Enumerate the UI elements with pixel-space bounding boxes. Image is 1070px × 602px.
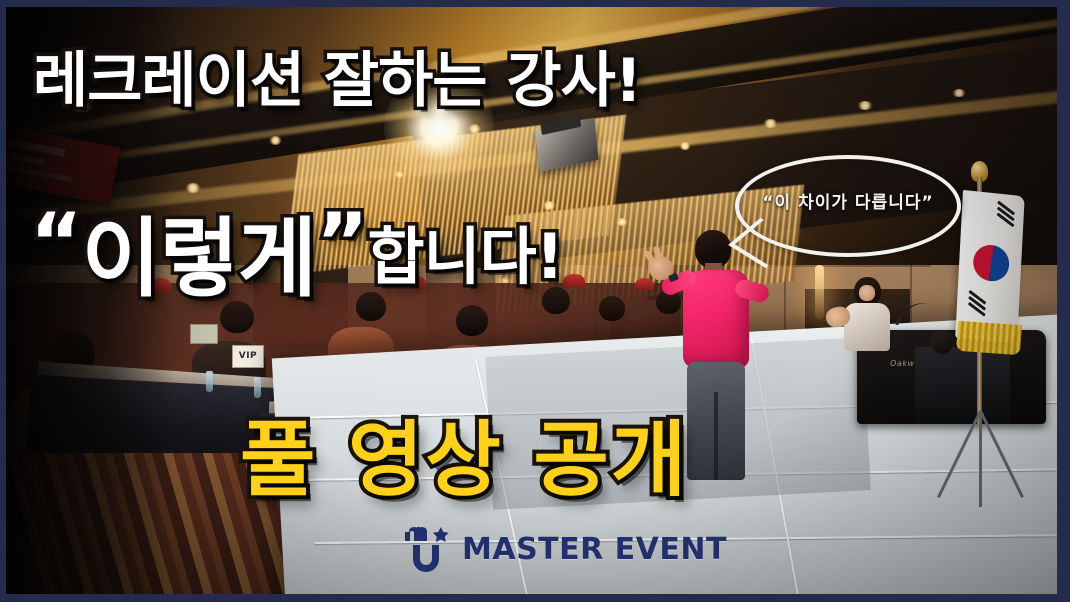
speech-bubble-text: “이 차이가 다릅니다” bbox=[735, 188, 961, 213]
headline-emphasis: 이렇게 bbox=[82, 209, 316, 309]
headline-line-1: 레크레이션 잘하는 강사! bbox=[33, 51, 641, 111]
wall-sconce bbox=[815, 265, 824, 319]
taeguk-circle bbox=[968, 241, 1014, 286]
headline-tail: 합니다! bbox=[368, 220, 563, 293]
youtube-thumbnail: VIP Oakwood bbox=[0, 0, 1070, 602]
subheadline-full-video-release: 풀 영상 공개 bbox=[240, 393, 688, 512]
logo-brand-text: MASTER EVENT bbox=[462, 532, 727, 567]
ceiling-downlight bbox=[679, 142, 691, 150]
master-event-logo: MASTER EVENT bbox=[401, 526, 727, 572]
ceiling-downlight bbox=[763, 119, 778, 128]
audience-head bbox=[456, 305, 488, 336]
party-hat bbox=[563, 274, 585, 288]
closing-quote: ” bbox=[316, 196, 368, 289]
flag-gold-fringe bbox=[956, 321, 1022, 355]
flag-tripod-base bbox=[953, 411, 1009, 507]
mj-smile-star-logo bbox=[401, 526, 453, 572]
vip-table-sign: VIP bbox=[232, 345, 264, 368]
attendee-face bbox=[859, 285, 875, 301]
party-hat bbox=[635, 278, 654, 290]
opening-quote: “ bbox=[30, 196, 82, 289]
ceiling-downlight bbox=[269, 136, 282, 145]
presenter-trousers bbox=[687, 362, 745, 480]
speech-bubble: “이 차이가 다릅니다” bbox=[735, 155, 961, 257]
ceiling-downlight bbox=[185, 183, 201, 193]
ceiling-downlight bbox=[616, 218, 628, 226]
headline-line-2: “이렇게”합니다! bbox=[30, 203, 563, 302]
audience-head bbox=[599, 296, 625, 321]
water-bottle bbox=[206, 371, 213, 392]
attendee-body bbox=[844, 303, 890, 351]
seated-attendee-clapping bbox=[826, 277, 906, 367]
table-sign bbox=[190, 324, 218, 344]
